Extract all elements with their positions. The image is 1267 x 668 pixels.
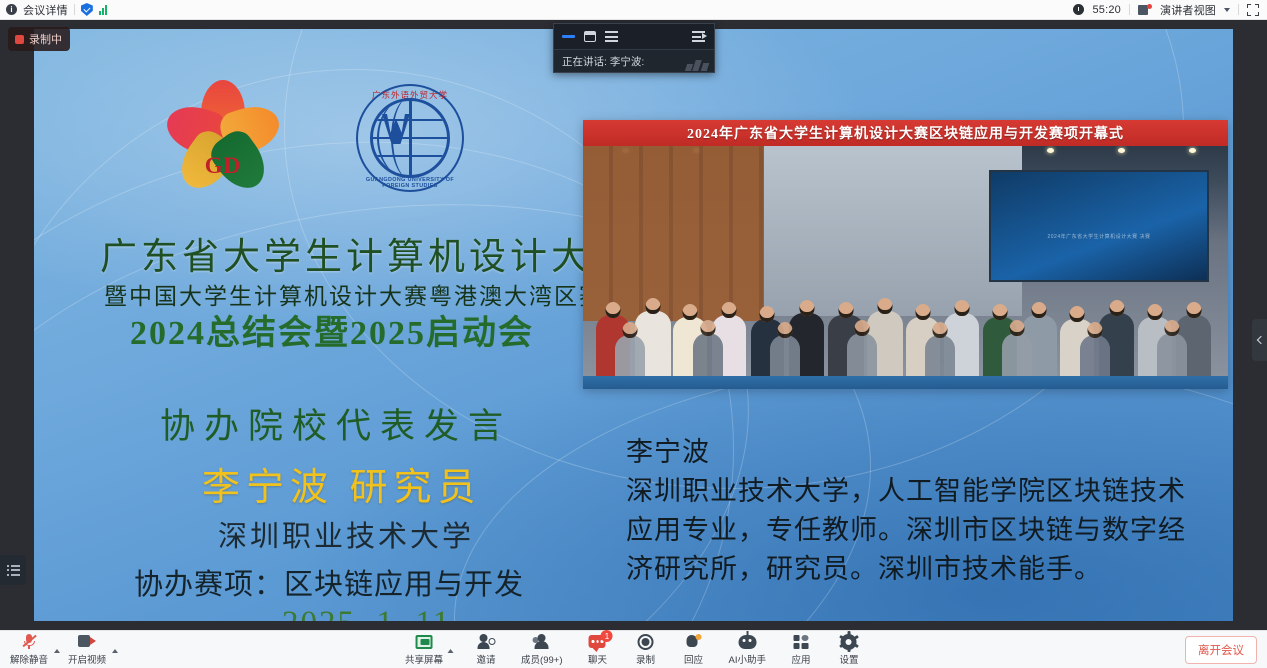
toolbar-left-group: 解除静音 开启视频: [0, 633, 118, 666]
record-label: 录制: [636, 652, 655, 666]
chevron-down-icon[interactable]: [1224, 8, 1230, 12]
toolbar-right-group: 离开会议: [1185, 636, 1267, 664]
top-bar: i 会议详情 55:20 演讲者视图: [0, 0, 1267, 20]
chat-button[interactable]: 1 聊天: [582, 633, 612, 666]
mic-muted-icon: [22, 633, 36, 650]
slide-speaker-university: 深圳职业技术大学: [218, 523, 474, 552]
ai-assistant-button[interactable]: AI小助手: [726, 633, 767, 666]
ai-assistant-label: AI小助手: [728, 652, 765, 666]
meeting-window: i 会议详情 55:20 演讲者视图 录制中: [0, 0, 1267, 668]
top-bar-left: i 会议详情: [0, 2, 107, 18]
camera-options-caret-icon[interactable]: [112, 649, 118, 653]
slide-date: 2025. 1. 11: [282, 607, 451, 621]
share-screen-button[interactable]: 共享屏幕: [403, 633, 445, 666]
video-button[interactable]: 开启视频: [66, 633, 108, 666]
speaker-thumbnail-panel[interactable]: 正在讲话: 李宁波:: [553, 23, 715, 73]
shield-icon[interactable]: [81, 3, 93, 16]
chat-label: 聊天: [588, 652, 607, 666]
meeting-details-label[interactable]: 会议详情: [23, 2, 68, 18]
participants-label: 成员(99+): [521, 652, 562, 666]
record-icon: [637, 633, 653, 650]
info-icon: i: [6, 4, 17, 15]
slide-logos: GD 广东外语外贸大学 GUANGDONG UNIVERSITY OF FORE…: [162, 77, 464, 199]
participants-list-handle[interactable]: [0, 555, 26, 585]
invite-icon: [477, 633, 495, 650]
gd-competition-logo-icon: GD: [162, 77, 284, 199]
clock-icon: [1073, 4, 1084, 15]
toolbar-center-group: 共享屏幕 邀请 成员(99+) 1 聊天 录制: [403, 633, 864, 666]
panel-collapse-handle[interactable]: [1252, 319, 1267, 361]
mute-button-label: 解除静音: [10, 652, 48, 666]
signal-icon[interactable]: [99, 4, 107, 15]
divider: [74, 4, 75, 15]
video-button-label: 开启视频: [68, 652, 106, 666]
speaker-panel-toolbar: [554, 24, 714, 50]
audio-wave-icon: [686, 60, 708, 71]
apps-label: 应用: [791, 652, 810, 666]
shared-screen-slide[interactable]: GD 广东外语外贸大学 GUANGDONG UNIVERSITY OF FORE…: [34, 29, 1233, 621]
chat-icon: 1: [589, 633, 606, 650]
active-speaker-caption: 正在讲话: 李宁波:: [562, 54, 644, 69]
expand-panel-icon[interactable]: [692, 31, 706, 42]
slide-title-line1: 广东省大学生计算机设计大赛: [100, 239, 633, 276]
window-icon[interactable]: [584, 31, 596, 42]
apps-button[interactable]: 应用: [786, 633, 816, 666]
gd-logo-text: GD: [162, 153, 284, 179]
reactions-label: 回应: [684, 652, 703, 666]
divider: [1238, 4, 1239, 15]
crowd: [583, 238, 1228, 389]
divider: [1129, 4, 1130, 15]
share-options-caret-icon[interactable]: [447, 649, 453, 653]
gdufs-logo-icon: 广东外语外贸大学 GUANGDONG UNIVERSITY OF FOREIGN…: [356, 84, 464, 192]
speaker-view-icon[interactable]: [1138, 4, 1152, 16]
slide-speaker-name: 李宁波 研究员: [202, 469, 482, 507]
share-screen-label: 共享屏幕: [405, 652, 443, 666]
participants-button[interactable]: 成员(99+): [519, 633, 564, 666]
mute-button[interactable]: 解除静音: [8, 633, 50, 666]
top-bar-right: 55:20 演讲者视图: [1073, 2, 1267, 18]
leave-meeting-button[interactable]: 离开会议: [1185, 636, 1257, 664]
slide-track: 协办赛项：区块链应用与开发: [134, 571, 524, 600]
record-dot-icon: [15, 35, 24, 44]
apps-icon: [793, 633, 808, 650]
chevron-left-icon: [1256, 336, 1264, 344]
recording-label: 录制中: [29, 31, 62, 47]
chat-unread-badge: 1: [601, 630, 613, 642]
minimize-icon[interactable]: [562, 35, 575, 38]
bio-text: 深圳职业技术大学，人工智能学院区块链技术应用专业，专任教师。深圳市区块链与数字经…: [626, 476, 1186, 584]
camera-off-icon: [78, 633, 96, 650]
settings-label: 设置: [839, 652, 858, 666]
meeting-timer: 55:20: [1092, 4, 1121, 16]
share-screen-icon: [416, 633, 433, 650]
meeting-stage: 录制中 GD 广东外语外贸大学: [0, 20, 1267, 630]
photo-banner-text: 2024年广东省大学生计算机设计大赛区块链应用与开发赛项开幕式: [583, 120, 1228, 146]
recording-badge: 录制中: [8, 27, 70, 51]
record-button[interactable]: 录制: [630, 633, 660, 666]
slide-bio-block: 李宁波 深圳职业技术大学，人工智能学院区块链技术应用专业，专任教师。深圳市区块链…: [626, 433, 1206, 590]
list-icon[interactable]: [605, 31, 618, 42]
ai-assistant-icon: [738, 633, 756, 650]
invite-label: 邀请: [477, 652, 496, 666]
invite-button[interactable]: 邀请: [471, 633, 501, 666]
bottom-toolbar: 解除静音 开启视频 共享屏幕 邀请 成员(: [0, 630, 1267, 668]
settings-button[interactable]: 设置: [834, 633, 864, 666]
slide-speech-heading: 协办院校代表发言: [160, 409, 512, 444]
view-mode-label[interactable]: 演讲者视图: [1160, 2, 1216, 18]
participants-list-icon: [7, 565, 20, 576]
mic-options-caret-icon[interactable]: [54, 649, 60, 653]
speaker-panel-body: 正在讲话: 李宁波:: [554, 50, 714, 73]
gdufs-logo-en: GUANGDONG UNIVERSITY OF FOREIGN STUDIES: [356, 177, 464, 189]
participants-icon: [533, 633, 551, 650]
slide-title-line3: 2024总结会暨2025启动会: [130, 317, 534, 351]
slide-title-line2: 暨中国大学生计算机设计大赛粤港澳大湾区赛: [104, 285, 604, 308]
photo-floor: [583, 376, 1228, 389]
reactions-icon: [685, 633, 702, 650]
settings-icon: [841, 633, 857, 650]
reactions-button[interactable]: 回应: [678, 633, 708, 666]
bio-name: 李宁波: [626, 433, 1206, 472]
photo-room: 2024年广东省大学生计算机设计大赛 决赛: [583, 146, 1228, 389]
fullscreen-icon[interactable]: [1247, 4, 1259, 16]
slide-group-photo: 2024年广东省大学生计算机设计大赛区块链应用与开发赛项开幕式 2024年广东省…: [583, 120, 1228, 389]
